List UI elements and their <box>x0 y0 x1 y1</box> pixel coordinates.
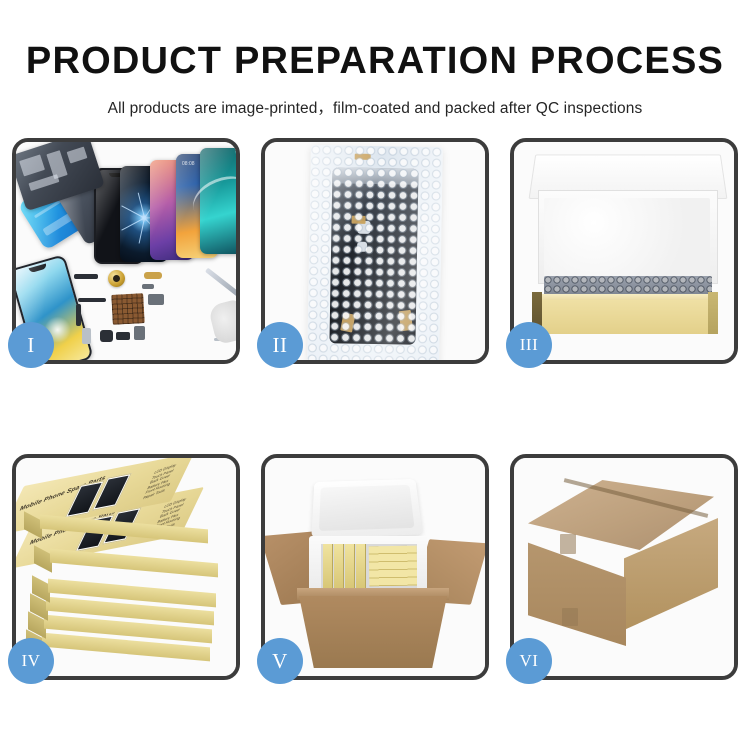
vibrator-motor-part <box>100 330 113 342</box>
panel-image-1: 08:08 <box>16 142 236 360</box>
packed-retail-boxes <box>321 544 417 588</box>
step-badge-5: V <box>257 638 303 684</box>
page-subtitle: All products are image-printed，film-coat… <box>0 83 750 118</box>
bubble-wrapped-screen <box>265 142 485 360</box>
panel-image-6 <box>514 458 734 676</box>
carton-tape-upper <box>560 534 576 554</box>
step-badge-2: II <box>257 322 303 368</box>
gold-connector-part <box>144 272 162 279</box>
step-badge-1: I <box>8 322 54 368</box>
product-preparation-process-infographic: { "header": { "title": "PRODUCT PREPARAT… <box>0 0 750 750</box>
earpiece-part <box>116 332 130 340</box>
technician-hand <box>208 299 236 346</box>
step-badge-3: III <box>506 322 552 368</box>
bag-sheen <box>307 145 443 360</box>
carton-body <box>299 596 447 668</box>
process-step-panel-3: III Kraft inner box with foam sheet and … <box>510 138 738 364</box>
box-right-side <box>708 292 718 334</box>
stacked-retail-boxes: Mobile Phone Spare Parts LCD Display Tou… <box>16 458 236 676</box>
retail-box-labeled: Mobile Phone Spare Parts LCD Display Tou… <box>24 486 194 516</box>
step-badge-4: IV <box>8 638 54 684</box>
speaker-coil-part <box>108 270 125 287</box>
panel-image-2 <box>265 142 485 360</box>
box-stack: Mobile Phone Spare Parts LCD Display Tou… <box>24 476 236 672</box>
process-step-panel-1: 08:08 <box>12 138 240 364</box>
battery-connector-part <box>134 326 145 340</box>
panel-image-5 <box>265 458 485 676</box>
header: PRODUCT PREPARATION PROCESS All products… <box>0 0 750 118</box>
sim-tray-part <box>82 328 91 344</box>
tweezers-tool <box>205 268 236 298</box>
process-steps-grid: 08:08 <box>12 138 738 680</box>
carton-front-face <box>528 536 626 646</box>
sealed-shipping-carton <box>514 458 734 676</box>
small-connector-part <box>142 284 154 289</box>
carton-tape-lower <box>562 608 578 626</box>
box-checklist: LCD Display Touch Panel Back Cover Batte… <box>142 462 180 501</box>
phone-parts-collage: 08:08 <box>16 142 236 360</box>
process-step-panel-6: VI Sealed and taped outer shipping carto… <box>510 454 738 680</box>
bubble-wrap-bag <box>307 145 443 360</box>
panel-image-3 <box>514 142 734 360</box>
ribbon-cable-part <box>76 304 81 326</box>
process-step-panel-4: Mobile Phone Spare Parts LCD Display Tou… <box>12 454 240 680</box>
process-step-panel-5: V Shipping carton lined with styrofoam h… <box>261 454 489 680</box>
styrofoam-lid <box>311 479 422 538</box>
inner-box-with-foam <box>514 142 734 360</box>
page-title: PRODUCT PREPARATION PROCESS <box>0 0 750 83</box>
logic-board-part <box>111 293 145 325</box>
foam-sheet <box>544 198 710 280</box>
carton-with-styrofoam <box>265 458 485 676</box>
camera-module-part <box>148 294 164 305</box>
flex-cable-part <box>74 274 98 279</box>
box-front-wall <box>536 300 718 334</box>
panel-image-4: Mobile Phone Spare Parts LCD Display Tou… <box>16 458 236 676</box>
step-badge-6: VI <box>506 638 552 684</box>
ribbon-cable-part <box>78 298 106 302</box>
phone-teal-display <box>200 148 236 254</box>
process-step-panel-2: II Screen sealed in bubble wrap bag <box>261 138 489 364</box>
